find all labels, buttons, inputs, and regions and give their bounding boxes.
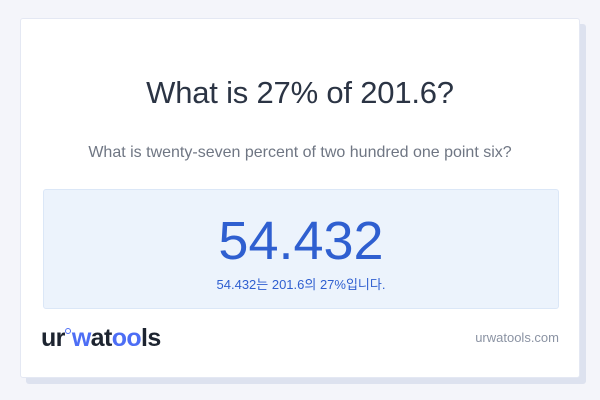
logo-text-part4: oo [112, 324, 141, 352]
content-card: What is 27% of 201.6? What is twenty-sev… [20, 18, 580, 378]
result-caption: 54.432는 201.6의 27%입니다. [44, 276, 558, 294]
logo-text-part1: ur [41, 324, 65, 352]
brand-logo[interactable]: ur w at oo ls [41, 324, 161, 352]
logo-text-part3: at [91, 324, 112, 352]
result-panel: 54.432 54.432는 201.6의 27%입니다. [43, 189, 559, 309]
footer: ur w at oo ls urwatools.com [41, 321, 559, 355]
result-value: 54.432 [44, 210, 558, 272]
degree-circle-icon [65, 328, 71, 334]
page-title: What is 27% of 201.6? [41, 73, 559, 113]
logo-text-part5: ls [141, 324, 161, 352]
page-root: What is 27% of 201.6? What is twenty-sev… [0, 0, 600, 400]
card-inner: What is 27% of 201.6? What is twenty-sev… [21, 19, 579, 377]
site-url-label: urwatools.com [475, 329, 559, 347]
page-subtitle: What is twenty-seven percent of two hund… [41, 141, 559, 165]
logo-text-part2: w [72, 324, 91, 352]
